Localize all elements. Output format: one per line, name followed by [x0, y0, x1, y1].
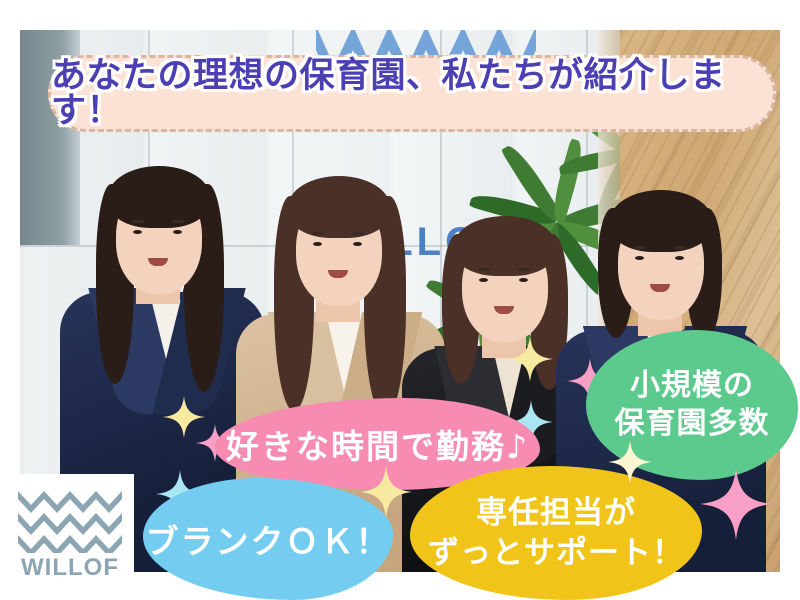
person-2-hair [288, 176, 390, 238]
bubble-dedicated-support: 専任担当が ずっとサポート！ [410, 466, 702, 600]
bubble-dedicated-support-line2: ずっとサポート！ [428, 533, 684, 573]
person-1-hair [108, 166, 210, 228]
willof-chevron-icon [18, 489, 122, 553]
bubble-flexible-hours-text: 好きな時間で勤務♪ [226, 420, 529, 468]
sparkle-yellow-blue-icon [360, 466, 412, 518]
sparkle-pink-right-icon [700, 468, 772, 540]
person-4-hair [610, 190, 712, 252]
bubble-small-nurseries-line2: 保育園多数 [615, 405, 770, 443]
headline-text: あなたの理想の保育園、私たちが紹介します！ [51, 59, 773, 129]
bubble-dedicated-support-line1: 専任担当が [428, 493, 684, 533]
bubble-blank-ok-text: ブランクＯＫ！ [146, 515, 391, 563]
willof-logo: WILLOF [6, 474, 134, 594]
willof-wordmark: WILLOF [21, 556, 119, 580]
person-3-hair [454, 216, 556, 276]
sparkle-yellow-center-icon [507, 336, 553, 382]
advertisement-banner: WILLOF [0, 0, 800, 600]
headline-banner: あなたの理想の保育園、私たちが紹介します！ [48, 55, 776, 132]
bubble-blank-ok: ブランクＯＫ！ [143, 478, 393, 600]
sparkle-white-yellow-icon [608, 440, 652, 484]
bubble-small-nurseries-line1: 小規模の [615, 367, 770, 405]
